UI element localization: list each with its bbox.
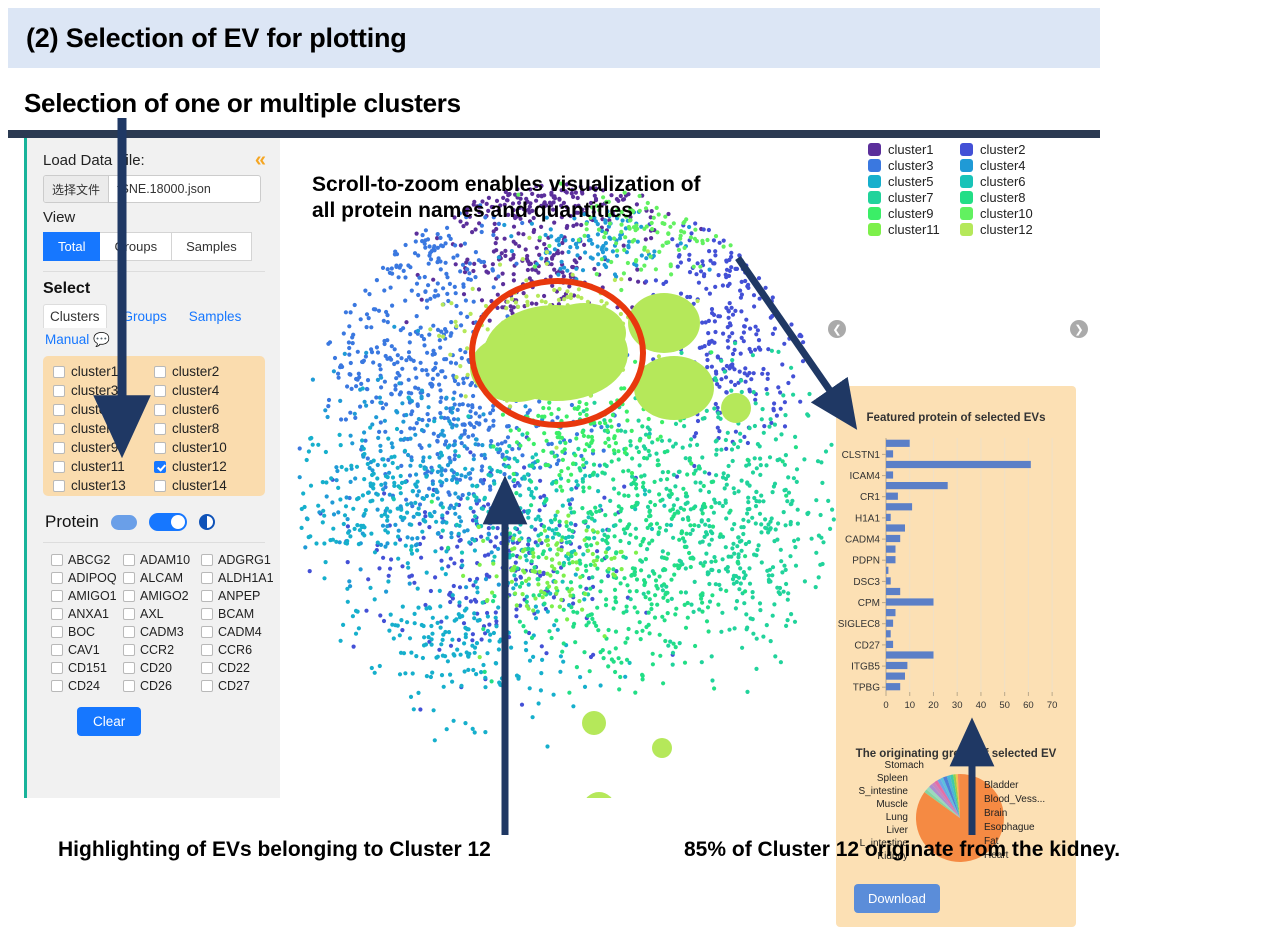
select-label: Select	[43, 280, 264, 298]
checkbox-box[interactable]	[53, 442, 65, 454]
annotation-bottom-right: 85% of Cluster 12 originate from the kid…	[684, 838, 1120, 862]
legend-label: cluster11	[888, 222, 940, 237]
checkbox-box[interactable]	[123, 680, 135, 692]
contrast-icon[interactable]	[199, 514, 215, 530]
protein-mode-pill[interactable]	[111, 515, 137, 530]
svg-text:S_intestine: S_intestine	[859, 786, 909, 797]
legend-label: cluster12	[980, 222, 1033, 237]
protein-label: CAV1	[68, 643, 100, 657]
cluster-checkbox-cluster1[interactable]: cluster1	[53, 364, 154, 379]
protein-checkbox-CADM3[interactable]: CADM3	[123, 625, 201, 639]
checkbox-box[interactable]	[51, 554, 63, 566]
speech-bubble-icon: 💬	[93, 332, 110, 347]
clear-button[interactable]: Clear	[77, 707, 141, 736]
protein-label: CCR2	[140, 643, 174, 657]
svg-text:Brain: Brain	[984, 808, 1007, 819]
protein-checkbox-ANPEP[interactable]: ANPEP	[201, 589, 279, 603]
checkbox-box[interactable]	[201, 608, 213, 620]
cluster-checkbox-cluster4[interactable]: cluster4	[154, 383, 255, 398]
protein-checkbox-CD151[interactable]: CD151	[51, 661, 123, 675]
annotation-scroll-line2: all protein names and quantities	[312, 198, 701, 224]
svg-text:50: 50	[999, 700, 1010, 711]
legend-label: cluster2	[980, 142, 1026, 157]
protein-label: CD26	[140, 679, 172, 693]
checkbox-box[interactable]	[123, 662, 135, 674]
protein-label: CD27	[218, 679, 250, 693]
svg-text:70: 70	[1047, 700, 1058, 711]
protein-checkbox-ALCAM[interactable]: ALCAM	[123, 571, 201, 585]
svg-text:DSC3: DSC3	[853, 577, 880, 588]
svg-text:ITGB5: ITGB5	[851, 662, 880, 673]
checkbox-box[interactable]	[53, 423, 65, 435]
checkbox-box[interactable]	[123, 608, 135, 620]
svg-text:10: 10	[904, 700, 915, 711]
svg-text:Esophague: Esophague	[984, 822, 1035, 833]
page-title: (2) Selection of EV for plotting	[8, 23, 407, 54]
tab-samples[interactable]: Samples	[183, 305, 248, 328]
protein-label: CCR6	[218, 643, 252, 657]
file-input-row[interactable]: 选择文件 tSNE.18000.json	[43, 175, 261, 203]
checkbox-box[interactable]	[201, 572, 213, 584]
checkbox-box[interactable]	[154, 442, 166, 454]
legend-item-cluster7[interactable]: cluster7	[868, 190, 960, 205]
checkbox-box[interactable]	[53, 461, 65, 473]
double-chevron-left-icon[interactable]: «	[255, 150, 266, 170]
legend-label: cluster8	[980, 190, 1026, 205]
legend-item-cluster1[interactable]: cluster1	[868, 142, 960, 157]
svg-text:Blood_Vess...: Blood_Vess...	[984, 794, 1045, 805]
cluster-checkbox-cluster14[interactable]: cluster14	[154, 478, 255, 493]
checkbox-box[interactable]	[154, 461, 166, 473]
protein-label: CD24	[68, 679, 100, 693]
svg-text:Spleen: Spleen	[877, 773, 908, 784]
chevron-left-icon[interactable]: ❮	[828, 320, 846, 338]
protein-checkbox-BOC[interactable]: BOC	[51, 625, 123, 639]
protein-checkbox-ANXA1[interactable]: ANXA1	[51, 607, 123, 621]
protein-checkbox-CD22[interactable]: CD22	[201, 661, 279, 675]
protein-checkbox-CCR6[interactable]: CCR6	[201, 643, 279, 657]
checkbox-box[interactable]	[53, 385, 65, 397]
featured-protein-bar-chart[interactable]: 010203040506070CLSTN1ICAM4CR1H1A1CADM4PD…	[836, 430, 1076, 735]
protein-label: ADAM10	[140, 553, 190, 567]
cluster-checkbox-cluster7[interactable]: cluster7	[53, 421, 154, 436]
bar-chart-title: Featured protein of selected EVs	[836, 386, 1076, 424]
protein-label: AXL	[140, 607, 164, 621]
protein-label: CD20	[140, 661, 172, 675]
slide-banner: (2) Selection of EV for plotting	[8, 8, 1100, 68]
legend-swatch	[868, 159, 881, 172]
svg-text:CADM4: CADM4	[845, 535, 880, 546]
protein-label: CADM4	[218, 625, 262, 639]
svg-text:20: 20	[928, 700, 939, 711]
checkbox-box[interactable]	[123, 554, 135, 566]
checkbox-box[interactable]	[51, 626, 63, 638]
legend-label: cluster3	[888, 158, 934, 173]
cluster-checkbox-cluster10[interactable]: cluster10	[154, 440, 255, 455]
protein-label: ALDH1A1	[218, 571, 274, 585]
legend-item-cluster2[interactable]: cluster2	[960, 142, 1094, 157]
cluster-label: cluster3	[71, 383, 118, 398]
legend-item-cluster10[interactable]: cluster10	[960, 206, 1094, 221]
view-button-total[interactable]: Total	[43, 232, 100, 261]
protein-checkbox-ADAM10[interactable]: ADAM10	[123, 553, 201, 567]
cluster-checkbox-cluster9[interactable]: cluster9	[53, 440, 154, 455]
legend-item-cluster5[interactable]: cluster5	[868, 174, 960, 189]
svg-text:Liver: Liver	[886, 825, 908, 836]
legend-item-cluster12[interactable]: cluster12	[960, 222, 1094, 237]
cluster-label: cluster7	[71, 421, 118, 436]
protein-checkbox-ALDH1A1[interactable]: ALDH1A1	[201, 571, 279, 585]
chevron-right-icon[interactable]: ❯	[1070, 320, 1088, 338]
svg-text:Stomach: Stomach	[885, 760, 924, 771]
cluster-legend: cluster1cluster2cluster3cluster4cluster5…	[844, 138, 1094, 253]
checkbox-box[interactable]	[154, 404, 166, 416]
protein-checkbox-CD20[interactable]: CD20	[123, 661, 201, 675]
cluster-checkbox-cluster3[interactable]: cluster3	[53, 383, 154, 398]
highlight-ellipse	[469, 278, 646, 428]
cluster-label: cluster4	[172, 383, 219, 398]
cluster-checkbox-cluster5[interactable]: cluster5	[53, 402, 154, 417]
checkbox-box[interactable]	[123, 644, 135, 656]
checkbox-box[interactable]	[51, 590, 63, 602]
svg-text:CD27: CD27	[854, 640, 880, 651]
checkbox-box[interactable]	[53, 404, 65, 416]
legend-label: cluster10	[980, 206, 1033, 221]
protein-checkbox-ADIPOQ[interactable]: ADIPOQ	[51, 571, 123, 585]
protein-checkbox-CAV1[interactable]: CAV1	[51, 643, 123, 657]
legend-label: cluster1	[888, 142, 934, 157]
protein-checkbox-ADGRG1[interactable]: ADGRG1	[201, 553, 279, 567]
cluster-label: cluster9	[71, 440, 118, 455]
load-data-file-label: Load Data File:	[43, 152, 264, 169]
checkbox-box[interactable]	[51, 662, 63, 674]
scatter-canvas[interactable]	[284, 138, 844, 798]
svg-text:CLSTN1: CLSTN1	[842, 450, 881, 461]
svg-text:Lung: Lung	[886, 812, 908, 823]
protein-label: AMIGO2	[140, 589, 189, 603]
checkbox-box[interactable]	[201, 590, 213, 602]
protein-label: Protein	[45, 512, 99, 532]
checkbox-box[interactable]	[154, 385, 166, 397]
legend-swatch	[960, 191, 973, 204]
legend-swatch	[960, 223, 973, 236]
annotation-scroll-line1: Scroll-to-zoom enables visualization of	[312, 172, 701, 198]
protein-label: CD151	[68, 661, 107, 675]
cluster-label: cluster14	[172, 478, 227, 493]
legend-label: cluster4	[980, 158, 1026, 173]
protein-checkbox-AXL[interactable]: AXL	[123, 607, 201, 621]
legend-label: cluster6	[980, 174, 1026, 189]
divider	[43, 271, 265, 272]
checkbox-box[interactable]	[201, 644, 213, 656]
view-button-group: Total Groups Samples	[43, 232, 264, 261]
svg-text:40: 40	[976, 700, 987, 711]
manual-label: Manual	[45, 332, 89, 347]
cluster-label: cluster10	[172, 440, 227, 455]
legend-swatch	[960, 207, 973, 220]
legend-label: cluster7	[888, 190, 934, 205]
legend-label: cluster9	[888, 206, 934, 221]
svg-text:SIGLEC8: SIGLEC8	[838, 619, 881, 630]
protein-checkbox-CD27[interactable]: CD27	[201, 679, 279, 693]
legend-swatch	[868, 223, 881, 236]
annotation-scroll-to-zoom: Scroll-to-zoom enables visualization of …	[312, 172, 701, 225]
svg-text:Muscle: Muscle	[876, 799, 908, 810]
cluster-checkbox-cluster12[interactable]: cluster12	[154, 459, 255, 474]
cluster-checkbox-cluster2[interactable]: cluster2	[154, 364, 255, 379]
legend-label: cluster5	[888, 174, 934, 189]
checkbox-box[interactable]	[201, 554, 213, 566]
svg-text:30: 30	[952, 700, 963, 711]
cluster-label: cluster5	[71, 402, 118, 417]
protein-checkbox-CD26[interactable]: CD26	[123, 679, 201, 693]
protein-label: ANXA1	[68, 607, 109, 621]
view-button-groups[interactable]: Groups	[100, 232, 172, 261]
checkbox-box[interactable]	[123, 590, 135, 602]
legend-item-cluster3[interactable]: cluster3	[868, 158, 960, 173]
protein-checkbox-AMIGO2[interactable]: AMIGO2	[123, 589, 201, 603]
protein-label: ANPEP	[218, 589, 260, 603]
protein-label: ADIPOQ	[68, 571, 117, 585]
app-window: « Load Data File: 选择文件 tSNE.18000.json V…	[8, 130, 1100, 820]
app-topbar	[8, 130, 1100, 138]
legend-swatch	[868, 143, 881, 156]
protein-checkbox-CADM4[interactable]: CADM4	[201, 625, 279, 639]
checkbox-box[interactable]	[51, 608, 63, 620]
cluster-label: cluster1	[71, 364, 118, 379]
legend-item-cluster8[interactable]: cluster8	[960, 190, 1094, 205]
file-name-value: tSNE.18000.json	[109, 176, 260, 202]
legend-swatch	[960, 175, 973, 188]
legend-swatch	[868, 207, 881, 220]
svg-text:0: 0	[883, 700, 888, 711]
cluster-checkbox-cluster13[interactable]: cluster13	[53, 478, 154, 493]
legend-swatch	[868, 175, 881, 188]
cluster-checkbox-cluster11[interactable]: cluster11	[53, 459, 154, 474]
cluster-label: cluster13	[71, 478, 126, 493]
protein-label: CADM3	[140, 625, 184, 639]
protein-toggle-switch[interactable]	[149, 513, 187, 531]
checkbox-box[interactable]	[123, 572, 135, 584]
protein-label: BCAM	[218, 607, 254, 621]
svg-text:60: 60	[1023, 700, 1034, 711]
svg-text:Bladder: Bladder	[984, 780, 1019, 791]
svg-text:H1A1: H1A1	[855, 513, 880, 524]
checkbox-box[interactable]	[154, 423, 166, 435]
checkbox-box[interactable]	[154, 366, 166, 378]
tab-clusters[interactable]: Clusters	[43, 304, 107, 328]
tsne-scatter-plot[interactable]	[284, 138, 844, 798]
protein-label: AMIGO1	[68, 589, 117, 603]
legend-item-cluster9[interactable]: cluster9	[868, 206, 960, 221]
checkbox-box[interactable]	[51, 572, 63, 584]
slide-subtitle: Selection of one or multiple clusters	[24, 88, 461, 119]
select-tab-group: Clusters Groups Samples	[43, 304, 264, 328]
svg-text:PDPN: PDPN	[852, 556, 880, 567]
checkbox-box[interactable]	[201, 662, 213, 674]
annotation-bottom-left: Highlighting of EVs belonging to Cluster…	[58, 838, 491, 862]
checkbox-box[interactable]	[201, 626, 213, 638]
checkbox-box[interactable]	[51, 680, 63, 692]
legend-item-cluster6[interactable]: cluster6	[960, 174, 1094, 189]
cluster-label: cluster6	[172, 402, 219, 417]
sidebar: « Load Data File: 选择文件 tSNE.18000.json V…	[24, 138, 280, 798]
cluster-label: cluster12	[172, 459, 227, 474]
checkbox-box[interactable]	[154, 480, 166, 492]
view-label: View	[43, 209, 264, 226]
svg-text:TPBG: TPBG	[853, 683, 880, 694]
protein-checkbox-ABCG2[interactable]: ABCG2	[51, 553, 123, 567]
svg-text:ICAM4: ICAM4	[849, 471, 880, 482]
checkbox-box[interactable]	[123, 626, 135, 638]
protein-label: BOC	[68, 625, 95, 639]
cluster-label: cluster11	[71, 459, 125, 474]
checkbox-box[interactable]	[51, 644, 63, 656]
cluster-label: cluster8	[172, 421, 219, 436]
view-button-samples[interactable]: Samples	[172, 232, 252, 261]
protein-checkbox-CCR2[interactable]: CCR2	[123, 643, 201, 657]
checkbox-box[interactable]	[201, 680, 213, 692]
legend-swatch	[960, 159, 973, 172]
tab-groups[interactable]: Groups	[117, 305, 173, 328]
divider-protein	[43, 542, 265, 543]
protein-label: CD22	[218, 661, 250, 675]
legend-swatch	[960, 143, 973, 156]
svg-text:CR1: CR1	[860, 492, 880, 503]
protein-label: ABCG2	[68, 553, 110, 567]
choose-file-button[interactable]: 选择文件	[44, 176, 109, 202]
legend-item-cluster11[interactable]: cluster11	[868, 222, 960, 237]
download-button[interactable]: Download	[854, 884, 940, 913]
cluster-checkbox-cluster6[interactable]: cluster6	[154, 402, 255, 417]
cluster-label: cluster2	[172, 364, 219, 379]
protein-checkbox-CD24[interactable]: CD24	[51, 679, 123, 693]
manual-link[interactable]: Manual 💬	[45, 332, 264, 348]
checkbox-box[interactable]	[53, 366, 65, 378]
protein-checkbox-list: ABCG2ADAM10ADGRG1ADIPOQALCAMALDH1A1AMIGO…	[51, 553, 264, 693]
protein-checkbox-BCAM[interactable]: BCAM	[201, 607, 279, 621]
protein-checkbox-AMIGO1[interactable]: AMIGO1	[51, 589, 123, 603]
cluster-checkbox-cluster8[interactable]: cluster8	[154, 421, 255, 436]
legend-item-cluster4[interactable]: cluster4	[960, 158, 1094, 173]
legend-swatch	[868, 191, 881, 204]
svg-text:CPM: CPM	[858, 598, 880, 609]
cluster-checkbox-list: cluster1cluster2cluster3cluster4cluster5…	[43, 356, 265, 496]
protein-label: ALCAM	[140, 571, 183, 585]
checkbox-box[interactable]	[53, 480, 65, 492]
protein-label: ADGRG1	[218, 553, 271, 567]
protein-toggle-row: Protein	[45, 512, 264, 532]
